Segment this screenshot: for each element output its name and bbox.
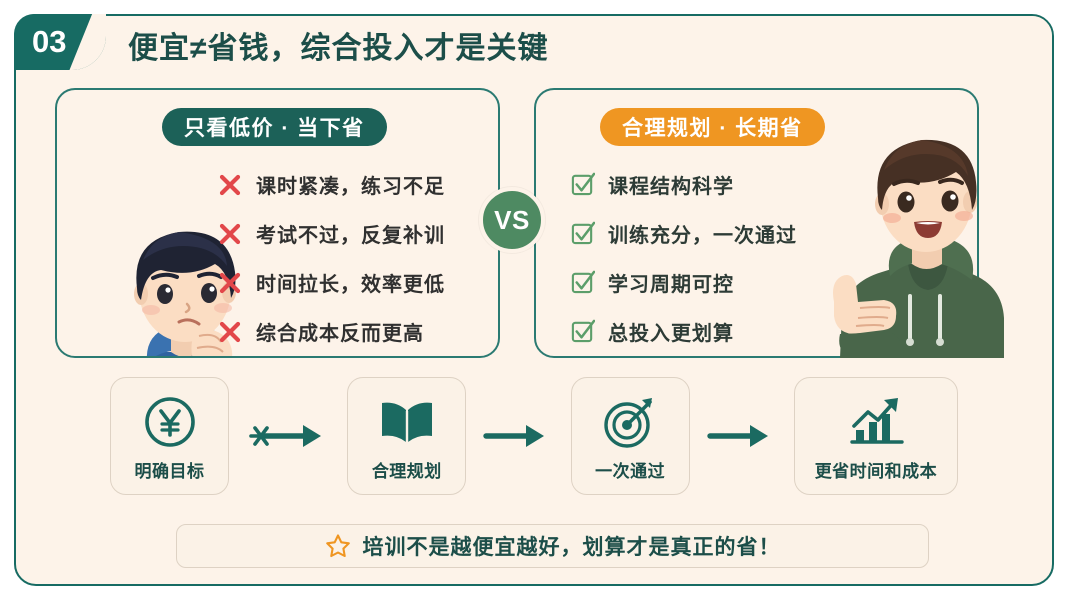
character-thumbs-up-boy: [812, 126, 1012, 358]
left-card-pill: 只看低价 · 当下省: [162, 108, 387, 146]
flow-step-3: 一次通过: [571, 377, 690, 495]
arrow-right-icon: [706, 418, 778, 454]
banner-text: 培训不是越便宜越好，划算才是真正的省！: [363, 531, 781, 561]
flow-step-2: 合理规划: [347, 377, 466, 495]
growth-chart-icon: [846, 391, 906, 453]
flow-step-label: 更省时间和成本: [815, 457, 938, 482]
list-item: 课程结构科学: [570, 162, 797, 207]
list-item: 考试不过，反复补训: [217, 211, 445, 256]
sparkle-arrow-right-icon: [245, 418, 331, 454]
cross-icon: [217, 270, 243, 296]
right-card-bullet-list: 课程结构科学 训练充分，一次通过 学习周期可控: [570, 162, 797, 354]
target-dart-icon: [601, 391, 659, 453]
cross-icon: [217, 172, 243, 198]
list-item-label: 训练充分，一次通过: [608, 219, 797, 248]
checkbox-checked-icon: [570, 270, 595, 295]
yen-coin-icon: [142, 391, 198, 453]
list-item-label: 总投入更划算: [608, 317, 734, 346]
comparison-area: 只看低价 · 当下省: [0, 0, 1068, 600]
list-item: 训练充分，一次通过: [570, 211, 797, 256]
star-outline-icon: [325, 533, 351, 559]
list-item-label: 课时紧凑，练习不足: [256, 170, 445, 199]
right-card-pill: 合理规划 · 长期省: [600, 108, 825, 146]
left-card-bullet-list: 课时紧凑，练习不足 考试不过，反复补训 时间拉长，效率更低: [217, 162, 445, 354]
bottom-banner: 培训不是越便宜越好，划算才是真正的省！: [176, 524, 929, 568]
list-item: 总投入更划算: [570, 309, 797, 354]
flow-step-1: 明确目标: [110, 377, 229, 495]
flow-step-4: 更省时间和成本: [794, 377, 958, 495]
section-number-badge: 03: [14, 14, 106, 70]
open-book-icon: [378, 391, 436, 453]
vs-badge: VS: [479, 187, 545, 253]
flow-step-label: 一次通过: [595, 457, 665, 482]
flow-step-label: 明确目标: [135, 457, 205, 482]
list-item: 课时紧凑，练习不足: [217, 162, 445, 207]
cross-icon: [217, 221, 243, 247]
infographic-slide: 03 便宜≠省钱，综合投入才是关键 只看低价 · 当下省: [0, 0, 1068, 600]
flow-step-label: 合理规划: [372, 457, 442, 482]
section-number-text: 03: [32, 24, 66, 60]
list-item-label: 综合成本反而更高: [256, 317, 424, 346]
list-item-label: 课程结构科学: [608, 170, 734, 199]
cross-icon: [217, 319, 243, 345]
list-item: 时间拉长，效率更低: [217, 260, 445, 305]
checkbox-checked-icon: [570, 221, 595, 246]
arrow-right-icon: [482, 418, 554, 454]
list-item: 学习周期可控: [570, 260, 797, 305]
card-cheap-option: 只看低价 · 当下省: [55, 88, 500, 358]
list-item-label: 考试不过，反复补训: [256, 219, 445, 248]
list-item-label: 学习周期可控: [608, 268, 734, 297]
list-item: 综合成本反而更高: [217, 309, 445, 354]
checkbox-checked-icon: [570, 172, 595, 197]
list-item-label: 时间拉长，效率更低: [256, 268, 445, 297]
checkbox-checked-icon: [570, 319, 595, 344]
process-flow: 明确目标 合理规划: [110, 375, 958, 497]
